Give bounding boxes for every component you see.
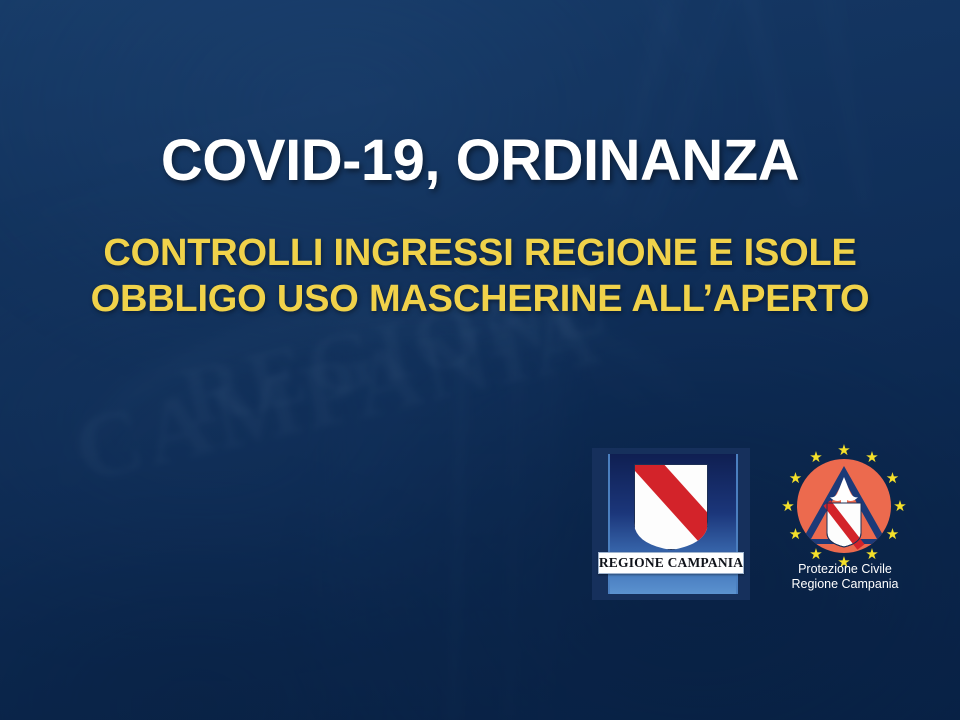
regione-campania-banner-label: REGIONE CAMPANIA <box>599 555 743 571</box>
eu-star-icon: ★ <box>781 499 796 514</box>
protezione-civile-emblem-icon: ★★★★★★★★★★★★ <box>778 450 910 562</box>
covid-ordinance-poster: REGIONE CAMPANIA COVID-19, ORDINANZA CON… <box>0 0 960 720</box>
protezione-civile-triangle-icon <box>797 459 891 553</box>
regione-campania-banner: REGIONE CAMPANIA <box>598 552 744 574</box>
subtitle-line-1: CONTROLLI INGRESSI REGIONE E ISOLE <box>0 234 960 274</box>
logo-group: REGIONE CAMPANIA ★★★★★★★★★★★★ <box>592 448 922 613</box>
protezione-civile-logo: ★★★★★★★★★★★★ <box>770 450 920 605</box>
protezione-civile-caption-line-2: Regione Campania <box>770 577 920 592</box>
page-title: COVID-19, ORDINANZA <box>0 131 960 192</box>
protezione-civile-caption-line-1: Protezione Civile <box>770 562 920 577</box>
eu-star-icon: ★ <box>893 499 908 514</box>
eu-star-icon: ★ <box>837 443 852 458</box>
protezione-civile-caption: Protezione Civile Regione Campania <box>770 562 920 592</box>
campania-shield-icon <box>634 464 708 550</box>
subtitle-line-2: OBBLIGO USO MASCHERINE ALL’APERTO <box>0 280 960 320</box>
shield-red-band <box>634 464 708 550</box>
regione-campania-logo: REGIONE CAMPANIA <box>592 448 750 600</box>
